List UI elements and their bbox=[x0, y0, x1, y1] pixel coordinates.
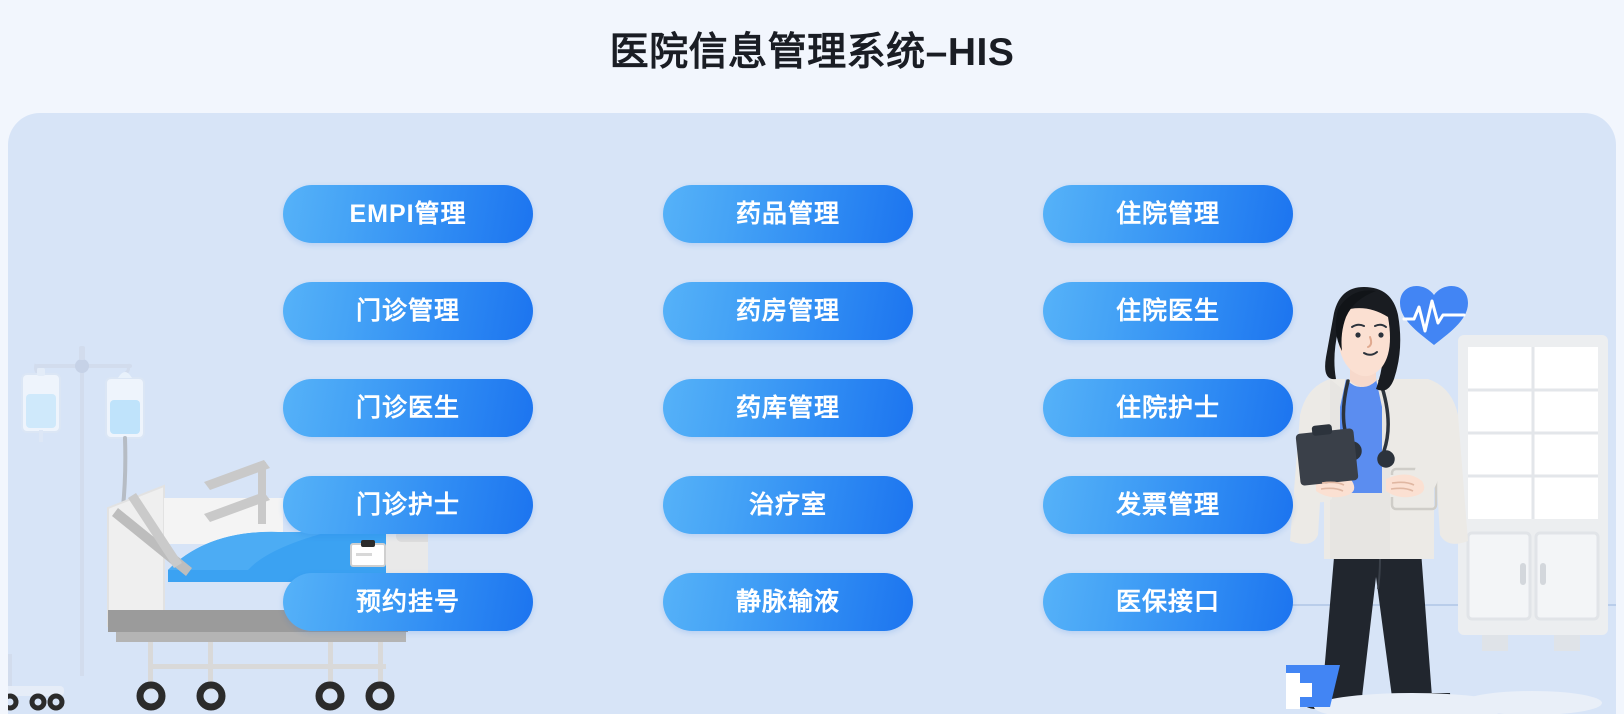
floor-stand-icon bbox=[8, 654, 64, 708]
menu-button-inpatient-nurse[interactable]: 住院护士 bbox=[1043, 379, 1293, 437]
menu-button-medical-insurance-interface[interactable]: 医保接口 bbox=[1043, 573, 1293, 631]
menu-button-treatment-room[interactable]: 治疗室 bbox=[663, 476, 913, 534]
menu-button-label: 静脉输液 bbox=[736, 590, 840, 615]
bed-caster-icon bbox=[140, 685, 391, 707]
module-button-grid: EMPI管理 药品管理 住院管理 门诊管理 药房管理 住院医生 门诊医生 药库管… bbox=[283, 185, 1303, 631]
menu-button-invoice-management[interactable]: 发票管理 bbox=[1043, 476, 1293, 534]
menu-button-label: EMPI管理 bbox=[349, 202, 466, 227]
menu-button-label: 住院管理 bbox=[1116, 202, 1220, 227]
menu-button-intravenous-infusion[interactable]: 静脉输液 bbox=[663, 573, 913, 631]
menu-button-label: 预约挂号 bbox=[356, 590, 460, 615]
menu-button-inpatient-doctor[interactable]: 住院医生 bbox=[1043, 282, 1293, 340]
menu-button-label: 药品管理 bbox=[736, 202, 840, 227]
menu-button-label: 门诊管理 bbox=[356, 299, 460, 324]
menu-button-label: 住院医生 bbox=[1116, 299, 1220, 324]
menu-button-empi-management[interactable]: EMPI管理 bbox=[283, 185, 533, 243]
menu-button-label: 药库管理 bbox=[736, 396, 840, 421]
female-doctor-icon bbox=[1290, 287, 1468, 709]
menu-button-pharmacy-management[interactable]: 药房管理 bbox=[663, 282, 913, 340]
menu-button-outpatient-management[interactable]: 门诊管理 bbox=[283, 282, 533, 340]
doctor-illustration bbox=[1286, 283, 1616, 714]
menu-button-outpatient-doctor[interactable]: 门诊医生 bbox=[283, 379, 533, 437]
menu-button-label: 医保接口 bbox=[1116, 590, 1220, 615]
menu-button-outpatient-nurse[interactable]: 门诊护士 bbox=[283, 476, 533, 534]
page-title: 医院信息管理系统–HIS bbox=[0, 30, 1624, 77]
menu-button-appointment-registration[interactable]: 预约挂号 bbox=[283, 573, 533, 631]
iv-stand-icon bbox=[22, 346, 144, 676]
menu-button-label: 发票管理 bbox=[1116, 493, 1220, 518]
clipboard-icon bbox=[1295, 424, 1358, 486]
medical-cross-sign-icon bbox=[1286, 665, 1340, 709]
menu-button-label: 住院护士 bbox=[1116, 396, 1220, 421]
stethoscope-icon bbox=[1343, 381, 1393, 466]
menu-button-drug-warehouse-management[interactable]: 药库管理 bbox=[663, 379, 913, 437]
menu-button-label: 门诊护士 bbox=[356, 493, 460, 518]
menu-button-drug-management[interactable]: 药品管理 bbox=[663, 185, 913, 243]
menu-button-label: 治疗室 bbox=[749, 493, 827, 518]
main-panel: EMPI管理 药品管理 住院管理 门诊管理 药房管理 住院医生 门诊医生 药库管… bbox=[8, 113, 1616, 714]
menu-button-inpatient-management[interactable]: 住院管理 bbox=[1043, 185, 1293, 243]
menu-button-label: 药房管理 bbox=[736, 299, 840, 324]
menu-button-label: 门诊医生 bbox=[356, 396, 460, 421]
heart-pulse-icon bbox=[1400, 286, 1468, 345]
